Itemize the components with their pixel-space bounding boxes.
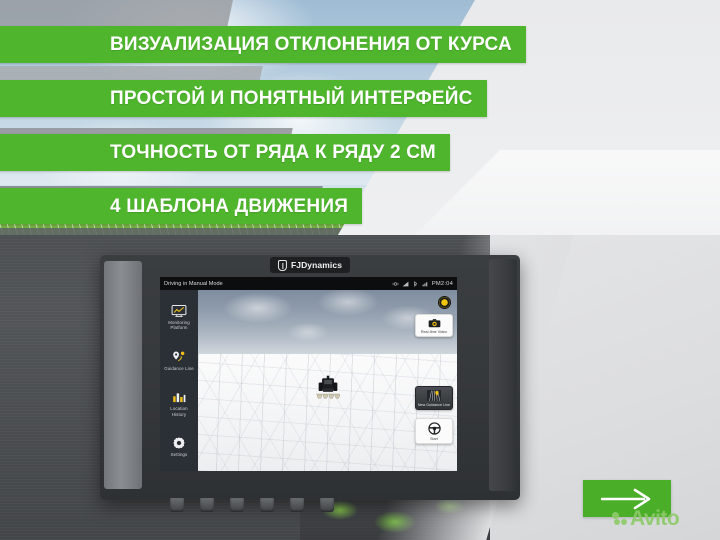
brand-name: FJDynamics [291,260,342,270]
field-3d-view[interactable]: Real-time Video New Guidance Line [198,290,457,471]
device-left-panel [104,261,142,489]
port [320,498,334,512]
bluetooth-icon [412,281,419,287]
promo-banner-3: ТОЧНОСТЬ ОТ РЯДА К РЯДУ 2 СМ [0,134,450,171]
bar-chart-icon [171,390,187,404]
start-label: Start [430,437,438,441]
real-time-video-button[interactable]: Real-time Video [415,314,453,337]
camera-icon [428,318,441,328]
avito-dots-icon [612,512,628,526]
decor-stripe [0,0,233,28]
satellite-icon [392,281,399,287]
fjdynamics-tablet-device: FJDynamics Driving in Manual Mode [100,255,520,500]
port [170,498,184,512]
sidebar-item-location-history[interactable]: LocationHistory [160,390,198,417]
gear-icon [171,436,187,450]
port [200,498,214,512]
promo-banner-3-text: ТОЧНОСТЬ ОТ РЯДА К РЯДУ 2 СМ [6,143,436,162]
guidance-line-icon [427,390,441,401]
promo-banner-4-text: 4 ШАБЛОНА ДВИЖЕНИЯ [6,197,348,216]
screen-body: MonitoringPlatform Guidance Line [160,290,457,471]
promo-banner-1: ВИЗУАЛИЗАЦИЯ ОТКЛОНЕНИЯ ОТ КУРСА [0,26,526,63]
sidebar-item-guidance-line[interactable]: Guidance Line [160,350,198,372]
port [260,498,274,512]
ground-grid [198,354,457,471]
gps-target-icon[interactable] [438,296,451,309]
tractor-rear-view-icon [311,374,345,408]
shield-icon [278,260,287,271]
status-bar-time: PM2:04 [432,281,453,287]
screen-sidebar: MonitoringPlatform Guidance Line [160,290,198,471]
device-ports [170,498,470,512]
device-right-panel [489,259,517,491]
sidebar-item-guidance-line-label: Guidance Line [164,366,194,372]
avito-wordmark: Avito [630,508,679,529]
status-bar-icons: PM2:04 [392,281,453,287]
signal-icon [402,281,409,287]
promo-banner-2: ПРОСТОЙ И ПОНЯТНЫЙ ИНТЕРФЕЙС [0,80,487,117]
sidebar-item-settings-label: Settings [171,452,188,458]
network-icon [422,281,429,287]
avito-watermark: Avito [612,508,679,529]
sidebar-item-monitoring-platform-label: MonitoringPlatform [168,320,190,331]
sidebar-item-monitoring-platform[interactable]: MonitoringPlatform [160,304,198,331]
monitor-chart-icon [171,304,187,318]
promo-banner-1-text: ВИЗУАЛИЗАЦИЯ ОТКЛОНЕНИЯ ОТ КУРСА [6,35,512,54]
real-time-video-label: Real-time Video [421,330,447,334]
device-screen[interactable]: Driving in Manual Mode PM [160,277,457,471]
driving-mode-label: Driving in Manual Mode [164,281,223,287]
sidebar-item-location-history-label: LocationHistory [170,406,187,417]
promo-banner-4: 4 ШАБЛОНА ДВИЖЕНИЯ [0,188,362,224]
status-bar: Driving in Manual Mode PM [160,277,457,290]
steering-wheel-icon [428,422,441,435]
sidebar-item-settings[interactable]: Settings [160,436,198,458]
port [230,498,244,512]
new-guidance-line-button[interactable]: New Guidance Line [415,386,453,410]
start-button[interactable]: Start [415,418,453,444]
promo-banner-2-text: ПРОСТОЙ И ПОНЯТНЫЙ ИНТЕРФЕЙС [6,89,473,108]
device-brand-logo: FJDynamics [270,257,350,273]
map-pin-icon [171,350,187,364]
port [290,498,304,512]
new-guidance-line-label: New Guidance Line [418,403,450,407]
